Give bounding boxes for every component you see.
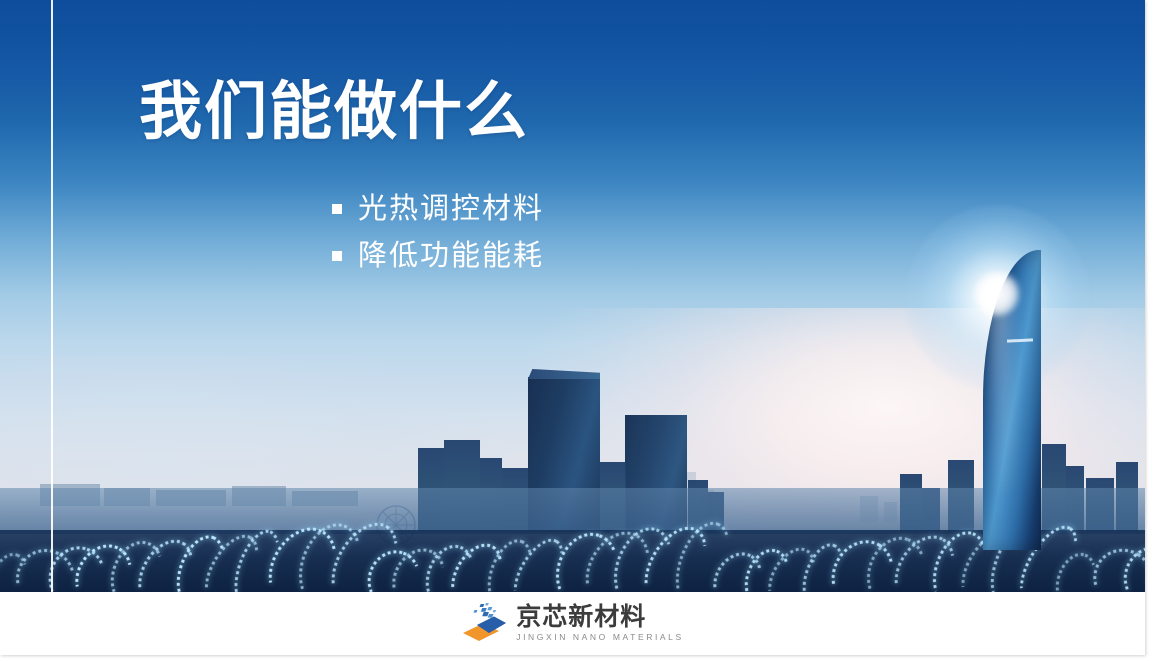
logo-english-name: JINGXIN NANO MATERIALS [516,633,684,642]
square-bullet-icon [332,251,342,261]
bullet-label: 降低功能能耗 [358,239,544,274]
slide-frame: 我们能做什么 光热调控材料 降低功能能耗 [0,0,1145,655]
left-accent-rule [51,0,53,592]
hero-background-image: 我们能做什么 光热调控材料 降低功能能耗 [0,0,1145,592]
list-item: 降低功能能耗 [332,239,544,274]
screenshot-stage: 我们能做什么 光热调控材料 降低功能能耗 [0,0,1167,661]
bullet-list: 光热调控材料 降低功能能耗 [332,192,544,286]
river-band [0,488,1145,534]
list-item: 光热调控材料 [332,192,544,227]
jingxin-logo-mark-icon [461,603,507,645]
page-title: 我们能做什么 [139,78,529,146]
bullet-label: 光热调控材料 [358,192,544,227]
logo-chinese-name: 京芯新材料 [516,605,684,630]
sun-core [975,272,1019,316]
square-bullet-icon [332,204,342,214]
logo-wordmark: 京芯新材料 JINGXIN NANO MATERIALS [516,605,684,642]
slide-footer: 京芯新材料 JINGXIN NANO MATERIALS [0,592,1145,655]
foreground-strip [0,530,1145,592]
company-logo: 京芯新材料 JINGXIN NANO MATERIALS [461,603,684,645]
